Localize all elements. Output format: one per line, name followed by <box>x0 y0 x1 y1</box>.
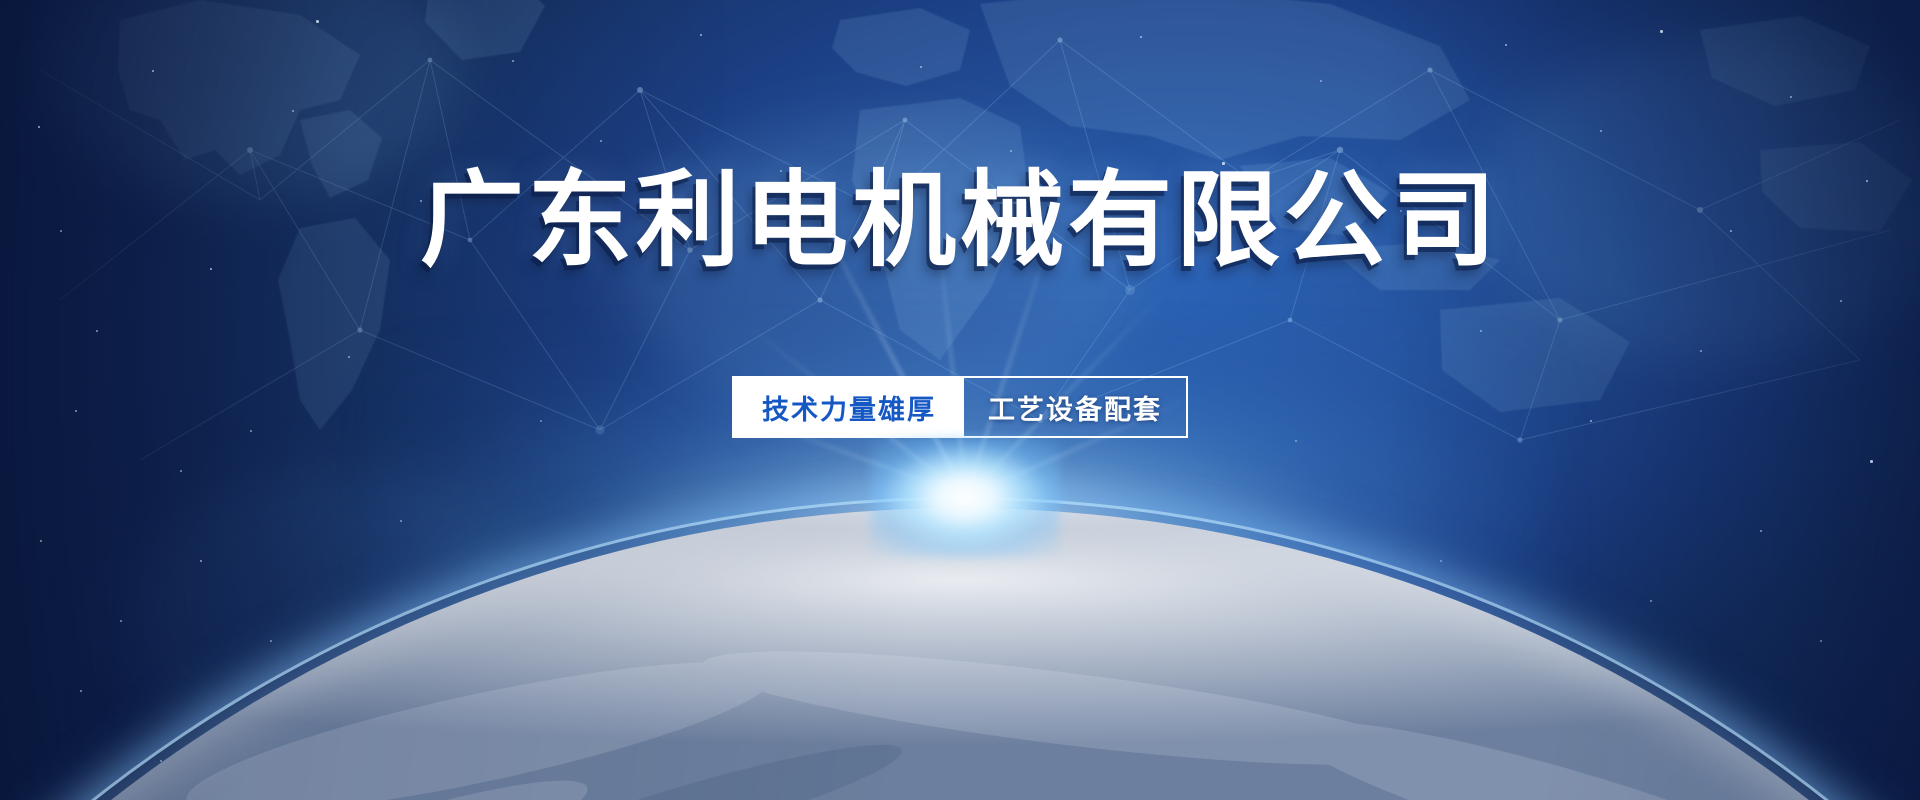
sun-core <box>870 437 1060 557</box>
page-title: 广东利电机械有限公司 <box>0 168 1920 272</box>
slogan-item-primary: 技术力量雄厚 <box>734 378 964 436</box>
slogan-item-secondary: 工艺设备配套 <box>964 378 1186 436</box>
slogan-bar: 技术力量雄厚 工艺设备配套 <box>732 376 1188 438</box>
hero-banner: 广东利电机械有限公司 技术力量雄厚 工艺设备配套 <box>0 0 1920 800</box>
